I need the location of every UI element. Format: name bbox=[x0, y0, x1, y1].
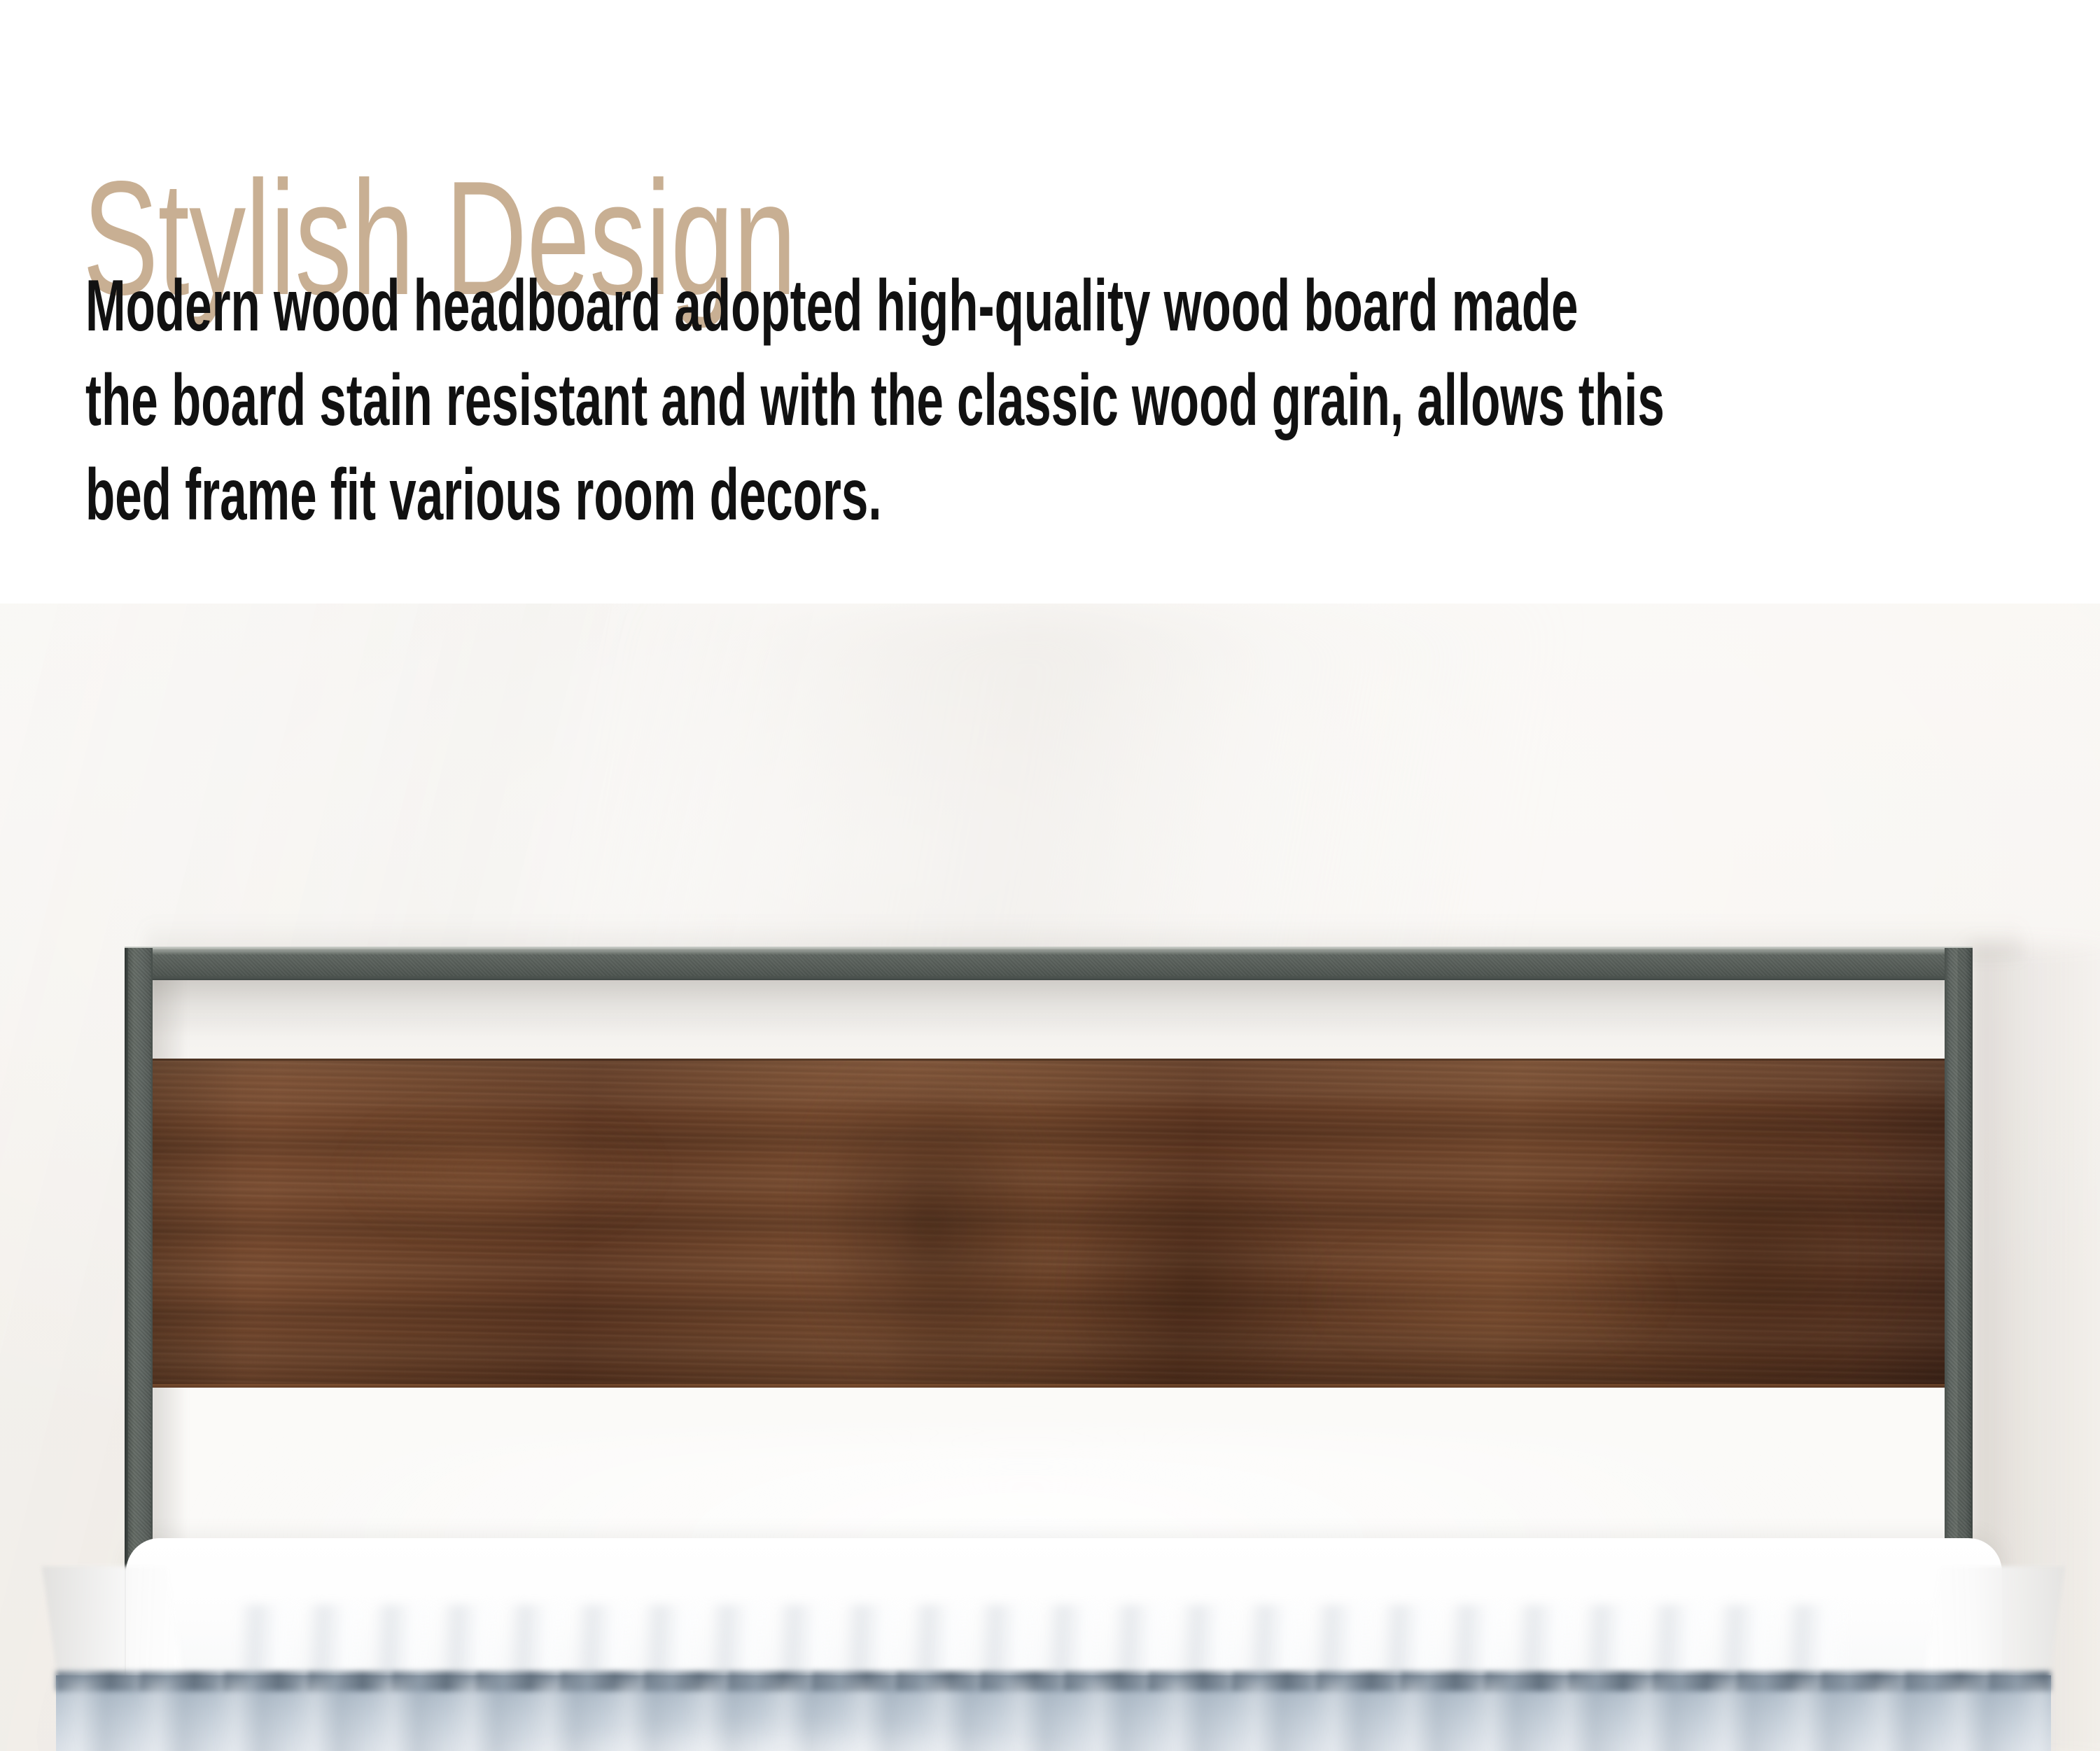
wood-headboard-panel bbox=[151, 1059, 1973, 1388]
wood-edge-bottom bbox=[151, 1384, 1973, 1388]
bed bbox=[56, 1538, 2051, 1751]
wood-sheen bbox=[151, 1059, 1973, 1388]
text-band: Stylish Design Modern wood headboard ado… bbox=[0, 0, 2100, 604]
body-copy-line-1: Modern wood headboard adopted high-quali… bbox=[85, 259, 1761, 354]
headboard-inner-shadow-top bbox=[150, 976, 1946, 1039]
headboard-top-rail-highlight bbox=[125, 947, 1973, 949]
headboard-top-rail-texture bbox=[125, 954, 1973, 976]
bedroom-headboard-photo bbox=[0, 604, 2100, 1751]
wood-edge-top bbox=[151, 1059, 1973, 1061]
body-copy-line-3: bed frame fit various room decors. bbox=[85, 448, 1761, 543]
blanket-highlight bbox=[420, 1687, 1330, 1751]
product-feature-page: Stylish Design Modern wood headboard ado… bbox=[0, 0, 2100, 1751]
body-copy-line-2: the board stain resistant and with the c… bbox=[85, 354, 1761, 448]
body-copy: Modern wood headboard adopted high-quali… bbox=[85, 259, 1761, 543]
